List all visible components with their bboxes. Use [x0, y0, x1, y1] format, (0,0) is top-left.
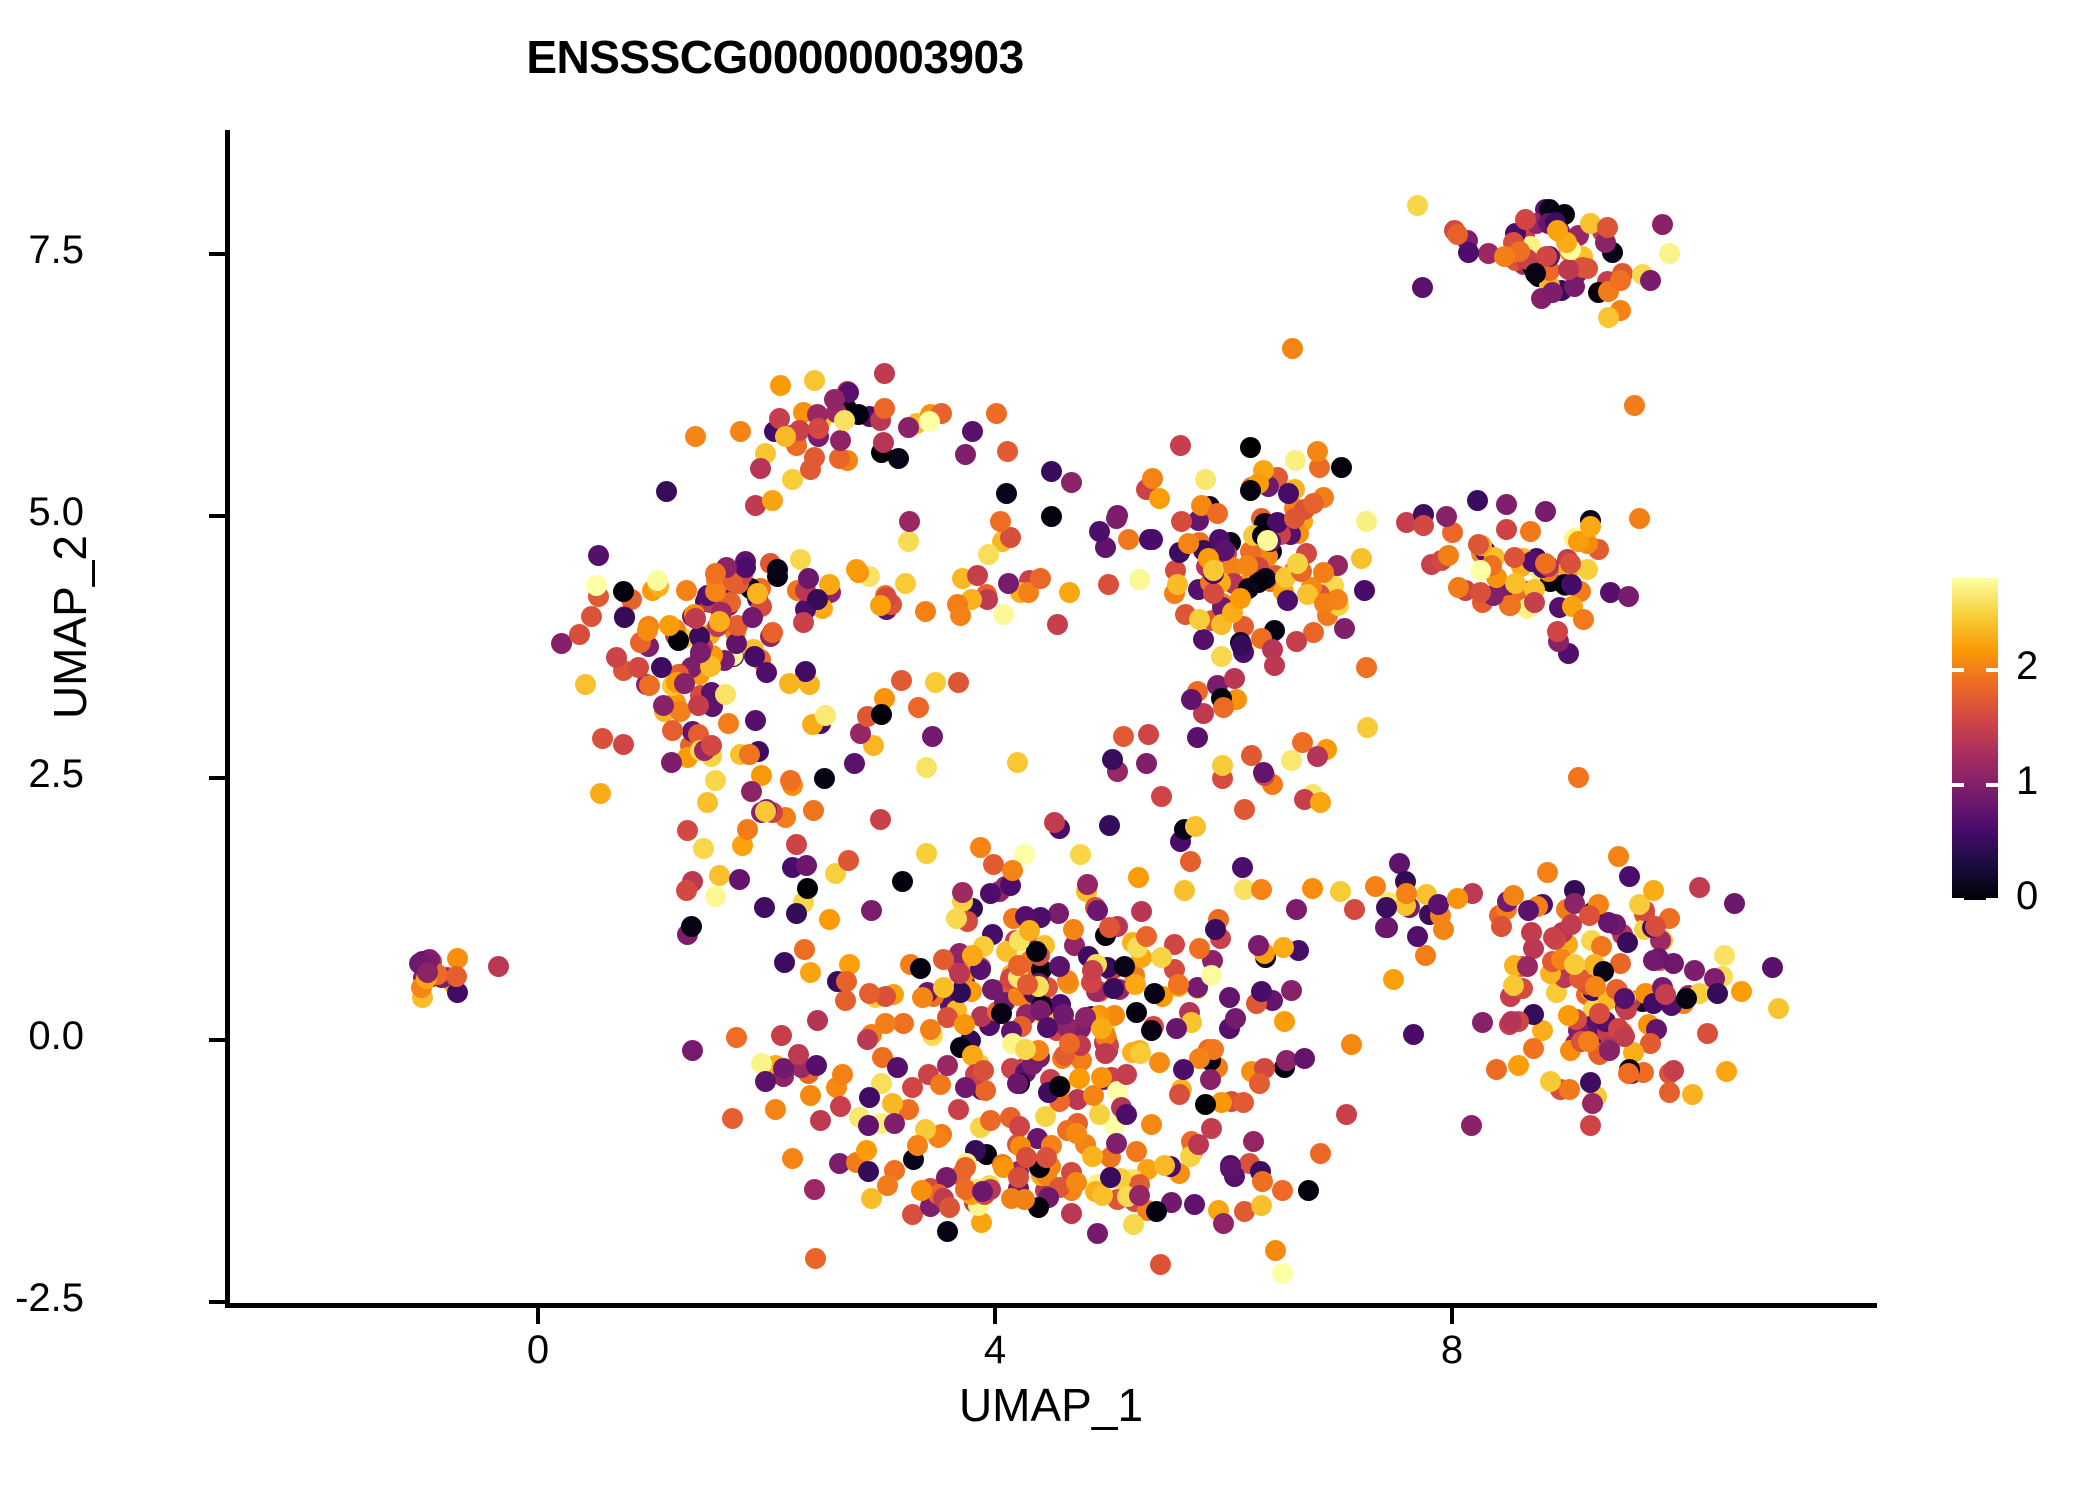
- plot-panel: [225, 130, 1875, 1305]
- chart-canvas: ENSSSCG00000003903 -2.50.02.55.07.5 048 …: [0, 0, 2100, 1500]
- y-tick-mark: [209, 252, 225, 256]
- y-axis-line: [225, 130, 230, 1308]
- colorbar-legend: [1952, 578, 1998, 900]
- y-tick-label: -2.5: [15, 1276, 84, 1321]
- x-tick-label: 0: [478, 1328, 598, 1373]
- x-axis-line: [225, 1303, 1877, 1308]
- colorbar-tick-mark: [1952, 898, 1964, 902]
- x-tick-mark: [536, 1308, 540, 1324]
- colorbar-tick-mark: [1952, 668, 1964, 672]
- colorbar-tick-label: 1: [2016, 759, 2038, 804]
- y-tick-mark: [209, 514, 225, 518]
- colorbar-gradient: [1952, 578, 1998, 900]
- colorbar-tick-mark: [1986, 668, 1998, 672]
- y-tick-label: 0.0: [28, 1014, 84, 1059]
- colorbar-tick-label: 0: [2016, 874, 2038, 919]
- y-tick-mark: [209, 776, 225, 780]
- page-title: ENSSSCG00000003903: [0, 30, 1550, 84]
- x-tick-mark: [993, 1308, 997, 1324]
- colorbar-tick-mark: [1986, 783, 1998, 787]
- x-axis-label: UMAP_1: [225, 1378, 1877, 1432]
- colorbar-tick-mark: [1952, 783, 1964, 787]
- y-tick-mark: [209, 1300, 225, 1304]
- x-tick-mark: [1450, 1308, 1454, 1324]
- y-tick-mark: [209, 1038, 225, 1042]
- colorbar-tick-label: 2: [2016, 644, 2038, 689]
- y-tick-label: 7.5: [28, 228, 84, 273]
- y-axis-label: UMAP_2: [43, 427, 97, 827]
- x-tick-label: 4: [935, 1328, 1055, 1373]
- x-tick-label: 8: [1392, 1328, 1512, 1373]
- colorbar-tick-mark: [1986, 898, 1998, 902]
